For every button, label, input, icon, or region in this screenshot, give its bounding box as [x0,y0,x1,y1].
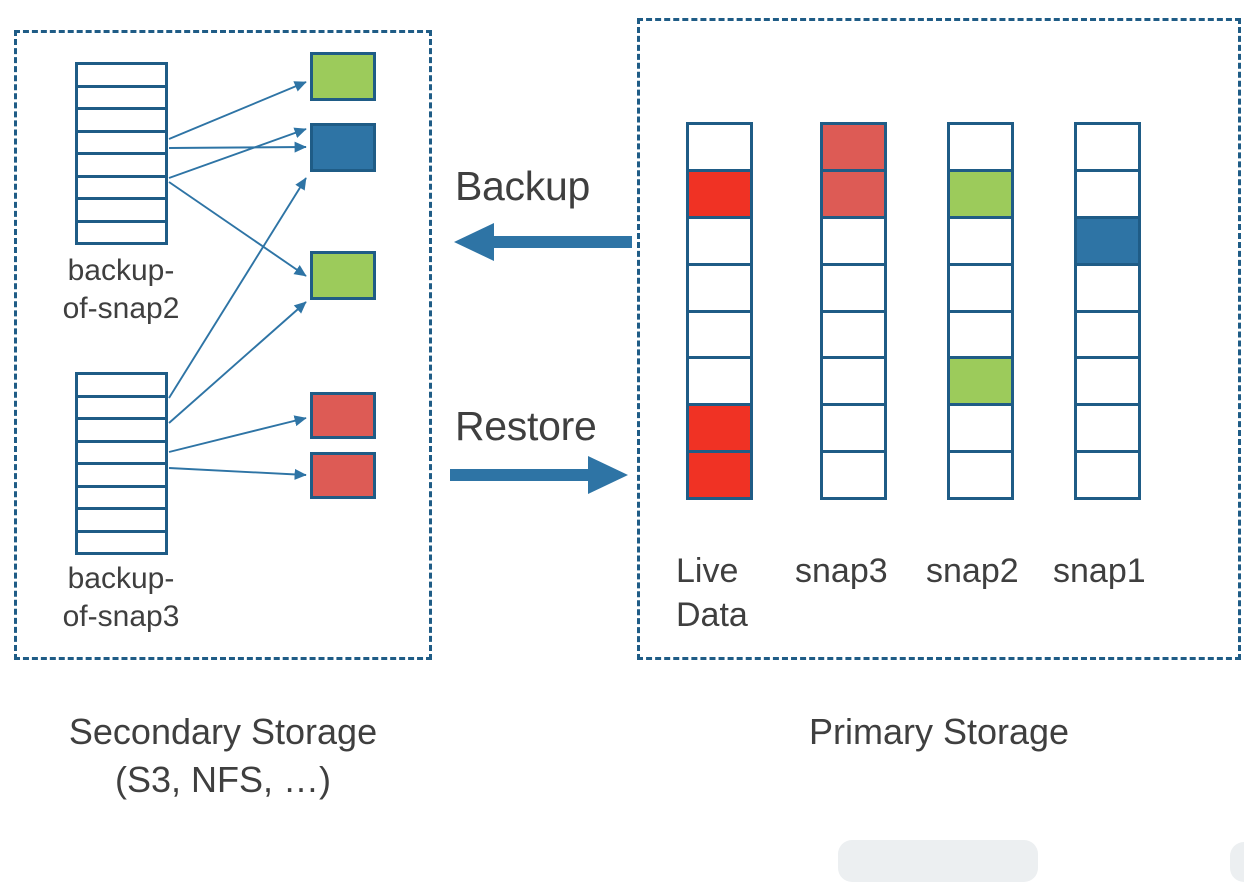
backup-snap2-cell-1 [78,65,165,88]
restore-label: Restore [455,403,596,450]
backup-snap3-cell-1 [78,375,165,398]
primary-column-snap2 [947,122,1014,500]
backup-of-snap2-table [75,62,168,245]
snap2-cell-4 [947,263,1014,313]
snap1-cell-5 [1074,310,1141,360]
backup-snap2-cell-3 [78,110,165,133]
extent-block-salmon-1 [310,392,376,439]
snap1-cell-6 [1074,356,1141,406]
live-data-cell-5 [686,310,753,360]
primary-column-label-snap1: snap1 [1053,549,1146,593]
backup-snap2-cell-5 [78,155,165,178]
snap1-cell-4 [1074,263,1141,313]
live-data-cell-1 [686,122,753,172]
snap3-cell-7 [820,403,887,453]
primary-column-snap3 [820,122,887,500]
snap3-cell-2 [820,169,887,219]
snap1-cell-1 [1074,122,1141,172]
snap2-cell-3 [947,216,1014,266]
backup-snap2-cell-8 [78,223,165,243]
snap2-cell-7 [947,403,1014,453]
snap3-cell-3 [820,216,887,266]
backup-of-snap3-table [75,372,168,555]
snap2-cell-8 [947,450,1014,500]
backup-arrow-icon [450,222,632,262]
backup-snap3-cell-7 [78,510,165,533]
backup-snap3-cell-6 [78,488,165,511]
bottom-edge-artifact-left [838,840,1038,882]
snap2-cell-2 [947,169,1014,219]
live-data-cell-3 [686,216,753,266]
backup-snap3-cell-5 [78,465,165,488]
backup-of-snap3-label: backup- of-snap3 [46,560,196,636]
diagram-canvas: backup- of-snap2 backup- of-snap3 [0,0,1244,858]
snap2-cell-6 [947,356,1014,406]
backup-snap2-cell-4 [78,133,165,156]
primary-storage-caption: Primary Storage [637,708,1241,756]
snap1-cell-2 [1074,169,1141,219]
primary-column-label-snap2: snap2 [926,549,1019,593]
live-data-cell-6 [686,356,753,406]
backup-snap2-cell-6 [78,178,165,201]
extent-block-green-1 [310,52,376,101]
snap2-cell-5 [947,310,1014,360]
bottom-edge-artifact-right [1230,842,1244,882]
backup-snap3-cell-3 [78,420,165,443]
snap2-cell-1 [947,122,1014,172]
extent-block-blue-1 [310,123,376,172]
backup-snap3-cell-2 [78,398,165,421]
primary-column-live-data [686,122,753,500]
live-data-cell-7 [686,403,753,453]
live-data-cell-8 [686,450,753,500]
live-data-cell-2 [686,169,753,219]
primary-column-label-live-data: Live Data [676,549,748,637]
snap3-cell-8 [820,450,887,500]
snap3-cell-5 [820,310,887,360]
extent-block-green-2 [310,251,376,300]
primary-column-snap1 [1074,122,1141,500]
snap3-cell-4 [820,263,887,313]
live-data-cell-4 [686,263,753,313]
backup-snap2-cell-2 [78,88,165,111]
restore-arrow-icon [450,455,632,495]
snap1-cell-3 [1074,216,1141,266]
backup-snap3-cell-8 [78,533,165,553]
backup-snap3-cell-4 [78,443,165,466]
primary-column-label-snap3: snap3 [795,549,888,593]
snap1-cell-8 [1074,450,1141,500]
backup-label: Backup [455,163,590,210]
extent-block-salmon-2 [310,452,376,499]
snap1-cell-7 [1074,403,1141,453]
snap3-cell-6 [820,356,887,406]
secondary-storage-caption: Secondary Storage (S3, NFS, …) [23,708,423,804]
snap3-cell-1 [820,122,887,172]
backup-of-snap2-label: backup- of-snap2 [46,252,196,328]
backup-snap2-cell-7 [78,200,165,223]
